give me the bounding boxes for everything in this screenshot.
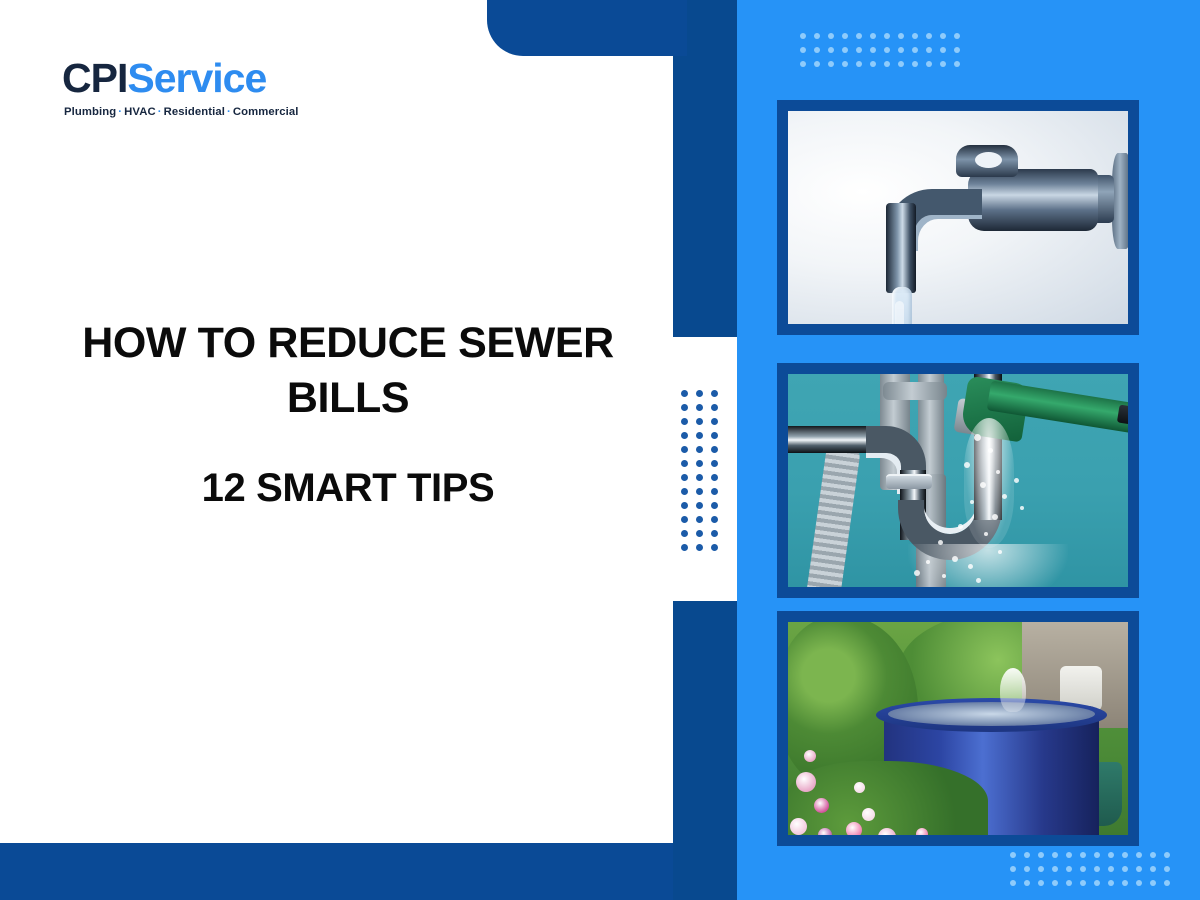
flexible-hose-icon [804, 438, 861, 587]
decor-dot [681, 390, 688, 397]
water-droplet-icon [942, 574, 946, 578]
decor-dot [1066, 880, 1072, 886]
decor-dot [954, 61, 960, 67]
headline-subtitle: 12 SMART TIPS [50, 464, 646, 512]
decor-dot [1122, 866, 1128, 872]
water-droplet-icon [938, 540, 943, 545]
water-droplet-icon [914, 570, 920, 576]
water-leak-spray-icon [964, 418, 1014, 548]
decor-dot [696, 432, 703, 439]
water-droplet-icon [974, 434, 981, 441]
decor-dot [696, 390, 703, 397]
decor-dot [696, 418, 703, 425]
decor-dot [696, 446, 703, 453]
water-droplet-icon [926, 560, 930, 564]
water-droplet-icon [996, 470, 1000, 474]
decor-dot [828, 61, 834, 67]
water-droplet-icon [976, 578, 981, 583]
decor-dot [814, 33, 820, 39]
decor-dot [800, 61, 806, 67]
brand-logo[interactable]: CPIService Plumbing·HVAC·Residential·Com… [62, 58, 372, 118]
flower-icon [804, 750, 816, 762]
photo-faucet-running-water [777, 100, 1139, 335]
decor-dot [681, 530, 688, 537]
photo-pipe-illustration [788, 374, 1128, 587]
decor-dot [954, 47, 960, 53]
decor-dot [1094, 866, 1100, 872]
barrel-water-surface-icon [888, 702, 1095, 726]
decor-dot [681, 418, 688, 425]
decor-dot [1150, 866, 1156, 872]
decor-dot [711, 474, 718, 481]
rain-splash-icon [1000, 668, 1026, 712]
logo-wordmark: CPIService [62, 58, 372, 99]
decor-dot [1038, 880, 1044, 886]
decor-dot [814, 47, 820, 53]
faucet-wall-plate-icon [1112, 153, 1128, 249]
decor-dot [926, 33, 932, 39]
decor-dot [696, 544, 703, 551]
decor-dot [711, 418, 718, 425]
decor-dot [1080, 866, 1086, 872]
decor-dot [1150, 880, 1156, 886]
decor-dot [1080, 880, 1086, 886]
decor-dot [814, 61, 820, 67]
photo-rain-barrel-garden [777, 611, 1139, 846]
decor-dot [842, 61, 848, 67]
logo-text-service: Service [127, 55, 266, 101]
decor-dot [856, 61, 862, 67]
photo-garden-illustration [788, 622, 1128, 835]
logo-tagline: Plumbing·HVAC·Residential·Commercial [64, 106, 372, 118]
decor-dot [711, 390, 718, 397]
decor-dot [711, 488, 718, 495]
top-rounded-tab [487, 0, 687, 56]
decor-dot [681, 446, 688, 453]
decor-dot [884, 33, 890, 39]
photo-faucet-illustration [788, 111, 1128, 324]
poster-canvas: CPIService Plumbing·HVAC·Residential·Com… [0, 0, 1200, 900]
vertical-band-bottom [673, 601, 737, 900]
decor-dot [1052, 866, 1058, 872]
bottom-blue-bar [0, 843, 673, 900]
water-droplet-icon [970, 500, 974, 504]
decor-dot [940, 61, 946, 67]
photo-leaking-pipe-wrench [777, 363, 1139, 598]
decor-dot [898, 33, 904, 39]
decor-dot [912, 47, 918, 53]
decor-dot [711, 544, 718, 551]
water-droplet-icon [984, 532, 988, 536]
decor-dot [940, 33, 946, 39]
decor-dot [681, 502, 688, 509]
water-droplet-icon [980, 482, 986, 488]
decor-dot [828, 47, 834, 53]
water-stream-highlight-icon [895, 301, 904, 324]
water-droplet-icon [968, 564, 973, 569]
decor-dot [1164, 866, 1170, 872]
decor-dot [1052, 880, 1058, 886]
decor-dot [856, 47, 862, 53]
decor-dot [681, 474, 688, 481]
water-droplet-icon [952, 556, 958, 562]
decor-dot [1066, 866, 1072, 872]
decor-dot [1136, 866, 1142, 872]
decor-dot [1150, 852, 1156, 858]
decor-dot [1122, 880, 1128, 886]
decor-dot [856, 33, 862, 39]
decor-dot [711, 460, 718, 467]
dot-grid-top [800, 33, 968, 75]
flower-icon [814, 798, 829, 813]
decor-dot [681, 432, 688, 439]
decor-dot [1164, 852, 1170, 858]
water-droplet-icon [1014, 478, 1019, 483]
decor-dot [696, 516, 703, 523]
water-splash-icon [908, 544, 1068, 587]
decor-dot [1108, 852, 1114, 858]
decor-dot [1038, 866, 1044, 872]
decor-dot [800, 47, 806, 53]
decor-dot [1164, 880, 1170, 886]
pipe-clamp-icon [886, 474, 932, 489]
decor-dot [884, 61, 890, 67]
water-droplet-icon [992, 514, 998, 520]
water-droplet-icon [988, 448, 993, 453]
tagline-separator-icon: · [156, 106, 164, 118]
tagline-item-residential: Residential [164, 106, 225, 118]
decor-dot [681, 544, 688, 551]
decor-dot [696, 502, 703, 509]
decor-dot [711, 432, 718, 439]
flower-icon [818, 828, 832, 835]
decor-dot [1136, 852, 1142, 858]
decor-dot [1024, 852, 1030, 858]
decor-dot [681, 460, 688, 467]
decor-dot [1094, 880, 1100, 886]
headline-block: HOW TO REDUCE SEWER BILLS 12 SMART TIPS [50, 316, 646, 512]
decor-dot [1108, 866, 1114, 872]
decor-dot [696, 460, 703, 467]
flower-icon [790, 818, 807, 835]
decor-dot [870, 33, 876, 39]
decor-dot [711, 404, 718, 411]
decor-dot [1080, 852, 1086, 858]
dot-grid-bottom [1010, 852, 1178, 894]
tagline-separator-icon: · [116, 106, 124, 118]
faucet-spout-icon [886, 203, 916, 293]
decor-dot [1024, 866, 1030, 872]
faucet-body-icon [968, 169, 1098, 231]
decor-dot [1010, 880, 1016, 886]
tagline-item-commercial: Commercial [233, 106, 299, 118]
decor-dot [696, 488, 703, 495]
decor-dot [1122, 852, 1128, 858]
decor-dot [696, 404, 703, 411]
decor-dot [1066, 852, 1072, 858]
tagline-separator-icon: · [225, 106, 233, 118]
decor-dot [1024, 880, 1030, 886]
decor-dot [681, 404, 688, 411]
decor-dot [1136, 880, 1142, 886]
decor-dot [884, 47, 890, 53]
decor-dot [711, 516, 718, 523]
decor-dot [842, 33, 848, 39]
decor-dot [1052, 852, 1058, 858]
decor-dot [912, 61, 918, 67]
decor-dot [1010, 852, 1016, 858]
water-droplet-icon [958, 524, 963, 529]
flower-icon [846, 822, 862, 835]
water-droplet-icon [964, 462, 970, 468]
decor-dot [870, 61, 876, 67]
decor-dot [681, 488, 688, 495]
water-droplet-icon [1020, 506, 1024, 510]
decor-dot [696, 474, 703, 481]
decor-dot [898, 61, 904, 67]
dot-grid-middle [681, 390, 726, 558]
decor-dot [681, 516, 688, 523]
decor-dot [800, 33, 806, 39]
flower-icon [916, 828, 928, 835]
decor-dot [912, 33, 918, 39]
water-droplet-icon [998, 550, 1002, 554]
tagline-item-hvac: HVAC [124, 106, 156, 118]
decor-dot [926, 61, 932, 67]
flower-icon [796, 772, 816, 792]
decor-dot [954, 33, 960, 39]
tagline-item-plumbing: Plumbing [64, 106, 116, 118]
decor-dot [870, 47, 876, 53]
decor-dot [842, 47, 848, 53]
decor-dot [711, 502, 718, 509]
decor-dot [898, 47, 904, 53]
grey-pipe-joint-icon [883, 382, 947, 400]
water-droplet-icon [1002, 494, 1007, 499]
decor-dot [940, 47, 946, 53]
logo-text-cpi: CPI [62, 55, 127, 101]
headline-main-title: HOW TO REDUCE SEWER BILLS [50, 316, 646, 426]
flower-icon [854, 782, 865, 793]
decor-dot [711, 446, 718, 453]
decor-dot [711, 530, 718, 537]
decor-dot [828, 33, 834, 39]
decor-dot [1010, 866, 1016, 872]
decor-dot [1038, 852, 1044, 858]
decor-dot [1108, 880, 1114, 886]
flower-icon [862, 808, 875, 821]
decor-dot [926, 47, 932, 53]
decor-dot [1094, 852, 1100, 858]
faucet-cap-hole-icon [975, 152, 1002, 168]
decor-dot [696, 530, 703, 537]
